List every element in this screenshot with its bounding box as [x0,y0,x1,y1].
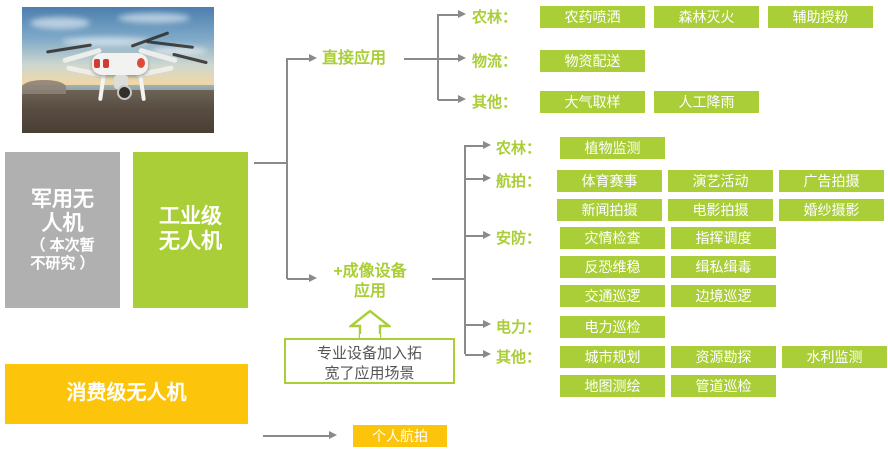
connector-imaging-row-1 [465,178,485,180]
military-line2: 人机 [41,212,83,235]
drone-photo [22,7,214,133]
connector-to-imaging [287,278,311,280]
tag-imaging-4-1[interactable]: 资源勘探 [671,346,776,368]
camera-lens-icon [117,85,132,100]
tag-imaging-4-2[interactable]: 水利监测 [782,346,887,368]
consumer-label: 消费级无人机 [67,382,187,406]
tag-imaging-2-0[interactable]: 灾情检查 [560,227,665,249]
tag-direct-2-1[interactable]: 人工降雨 [654,91,759,113]
row-label-direct-1: 物流： [472,50,517,71]
connector-direct-row-0 [438,14,460,16]
drone-indicator [137,58,145,68]
connector-imaging-row-3 [465,324,485,326]
connector-imaging-trunk [464,145,466,354]
row-label-imaging-0: 农林： [496,137,541,158]
tag-imaging-0-0[interactable]: 植物监测 [560,137,665,159]
tag-imaging-1-3[interactable]: 新闻拍摄 [557,199,662,221]
tag-direct-0-0[interactable]: 农药喷洒 [540,6,645,28]
tag-imaging-2-2[interactable]: 反恐维稳 [560,256,665,278]
tag-imaging-1-4[interactable]: 电影拍摄 [668,199,773,221]
tag-imaging-1-5[interactable]: 婚纱摄影 [779,199,884,221]
tag-imaging-2-5[interactable]: 边境巡逻 [671,285,776,307]
row-label-imaging-2: 安防： [496,227,541,248]
category-consumer-drone[interactable]: 消费级无人机 [5,364,248,424]
military-note1: （ 本次暂 [30,237,94,255]
connector-to-direct [287,58,311,60]
diagram-canvas: 军用无 人机 （ 本次暂 不研究 ） 工业级 无人机 消费级无人机 直接应用 +… [0,0,888,461]
arrow-to-imaging [309,274,317,282]
callout-note: 专业设备加入拓 宽了应用场景 [284,338,455,384]
category-military-drone[interactable]: 军用无 人机 （ 本次暂 不研究 ） [5,152,120,308]
arrow-direct-row-0 [458,10,466,18]
connector-consumer [263,435,331,437]
arrow-imaging-row-3 [483,320,491,328]
tag-imaging-3-0[interactable]: 电力巡检 [560,316,665,338]
arrow-consumer [329,431,337,439]
photo-hill [22,80,66,94]
arrow-direct-row-1 [458,54,466,62]
row-label-direct-2: 其他： [472,91,517,112]
military-note2: 不研究 ） [30,255,94,273]
arrow-imaging-row-1 [483,174,491,182]
military-line1: 军用无 [31,188,94,211]
connector-industrial-to-trunk [254,162,288,164]
tag-imaging-2-1[interactable]: 指挥调度 [671,227,776,249]
connector-imaging-row-0 [465,145,485,147]
row-label-imaging-3: 电力： [496,316,541,337]
industrial-line1: 工业级 [159,205,222,228]
callout-line2: 宽了应用场景 [286,364,453,384]
category-industrial-drone[interactable]: 工业级 无人机 [133,152,248,308]
connector-direct-row-2 [438,99,460,101]
connector-imaging-row-2 [465,235,485,237]
arrow-imaging-row-2 [483,231,491,239]
row-label-imaging-4: 其他： [496,346,541,367]
tag-imaging-4-0[interactable]: 城市规划 [560,346,665,368]
arrow-to-direct [309,54,317,62]
connector-imaging-stem [432,278,465,280]
tag-imaging-1-2[interactable]: 广告拍摄 [779,170,884,192]
tag-imaging-2-3[interactable]: 缉私缉毒 [671,256,776,278]
tag-direct-1-0[interactable]: 物资配送 [540,50,645,72]
connector-main-trunk [286,58,288,279]
drone-indicator [103,59,109,68]
row-label-direct-0: 农林： [472,6,517,27]
tag-imaging-4-3[interactable]: 地图测绘 [560,375,665,397]
drone-indicator [94,59,100,68]
row-label-imaging-1: 航拍： [496,170,541,191]
tag-direct-2-0[interactable]: 大气取样 [540,91,645,113]
callout-up-arrow-icon [349,310,391,340]
arrow-imaging-row-4 [483,350,491,358]
connector-direct-trunk [437,14,439,100]
node-direct-application[interactable]: 直接应用 [322,49,386,69]
tag-consumer-personal-aerial[interactable]: 个人航拍 [353,425,447,447]
cloud-icon [30,17,90,29]
arrow-imaging-row-0 [483,141,491,149]
tag-imaging-1-1[interactable]: 演艺活动 [668,170,773,192]
tag-imaging-2-4[interactable]: 交通巡逻 [560,285,665,307]
tag-direct-0-2[interactable]: 辅助授粉 [768,6,873,28]
connector-imaging-row-4 [465,354,485,356]
tag-direct-0-1[interactable]: 森林灭火 [654,6,759,28]
cloud-icon [118,13,190,23]
connector-direct-row-1 [438,58,460,60]
tag-imaging-4-4[interactable]: 管道巡检 [671,375,776,397]
tag-imaging-1-0[interactable]: 体育赛事 [557,170,662,192]
node-imaging-application[interactable]: +成像设备应用 [331,262,409,302]
industrial-line2: 无人机 [159,230,222,253]
connector-direct-stem [404,58,438,60]
callout-line1: 专业设备加入拓 [286,344,453,364]
arrow-direct-row-2 [458,95,466,103]
